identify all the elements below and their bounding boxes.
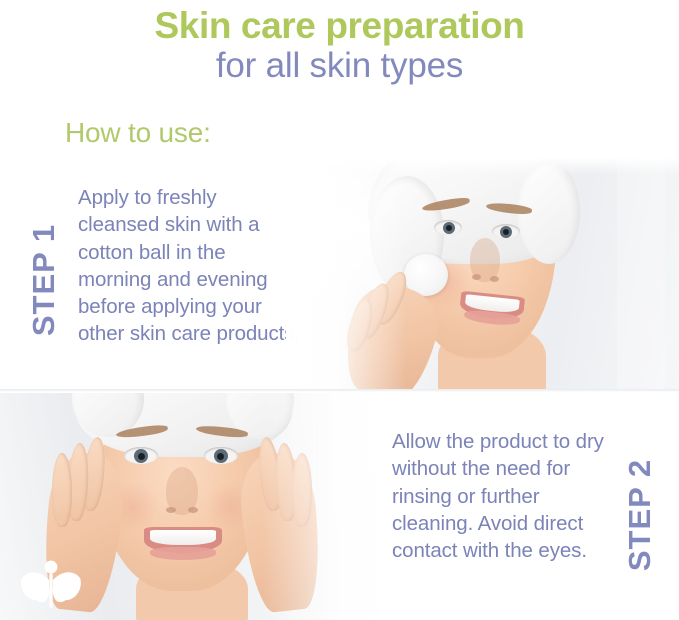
panel-divider (0, 389, 679, 392)
teeth (150, 530, 216, 545)
butterfly-leaf-icon (20, 556, 82, 610)
image-right-fade (262, 393, 392, 620)
header: Skin care preparation for all skin types… (0, 0, 679, 149)
eye-right (492, 224, 520, 239)
lower-lip (150, 547, 216, 560)
page-title-line2: for all skin types (0, 46, 679, 85)
nostril (166, 507, 176, 513)
pupil-right (217, 453, 224, 460)
brand-logo (20, 556, 82, 610)
image-top-fade (286, 158, 679, 174)
pupil-left (138, 453, 145, 460)
step-2-label: STEP 2 (622, 455, 658, 575)
eye-left (434, 220, 462, 235)
pupil-left (446, 225, 452, 231)
finger (52, 453, 72, 527)
image-left-fade (286, 158, 406, 389)
step-1-image (286, 158, 679, 389)
step-1-label: STEP 1 (26, 220, 62, 340)
background-blur-bar (617, 158, 665, 389)
nostril (188, 507, 198, 513)
eye-right (204, 447, 238, 464)
step-1-text: Apply to freshly cleansed skin with a co… (78, 184, 300, 348)
how-to-use-heading: How to use: (65, 117, 679, 149)
eye-left (124, 447, 158, 464)
step-2-panel: STEP 2 Allow the product to dry without … (0, 393, 679, 620)
step-2-text: Allow the product to dry without the nee… (392, 428, 618, 564)
pupil-right (503, 229, 509, 235)
page-title-line1: Skin care preparation (0, 6, 679, 46)
step-1-panel: STEP 1 Apply to freshly cleansed skin wi… (0, 158, 679, 389)
nostril (490, 276, 499, 282)
